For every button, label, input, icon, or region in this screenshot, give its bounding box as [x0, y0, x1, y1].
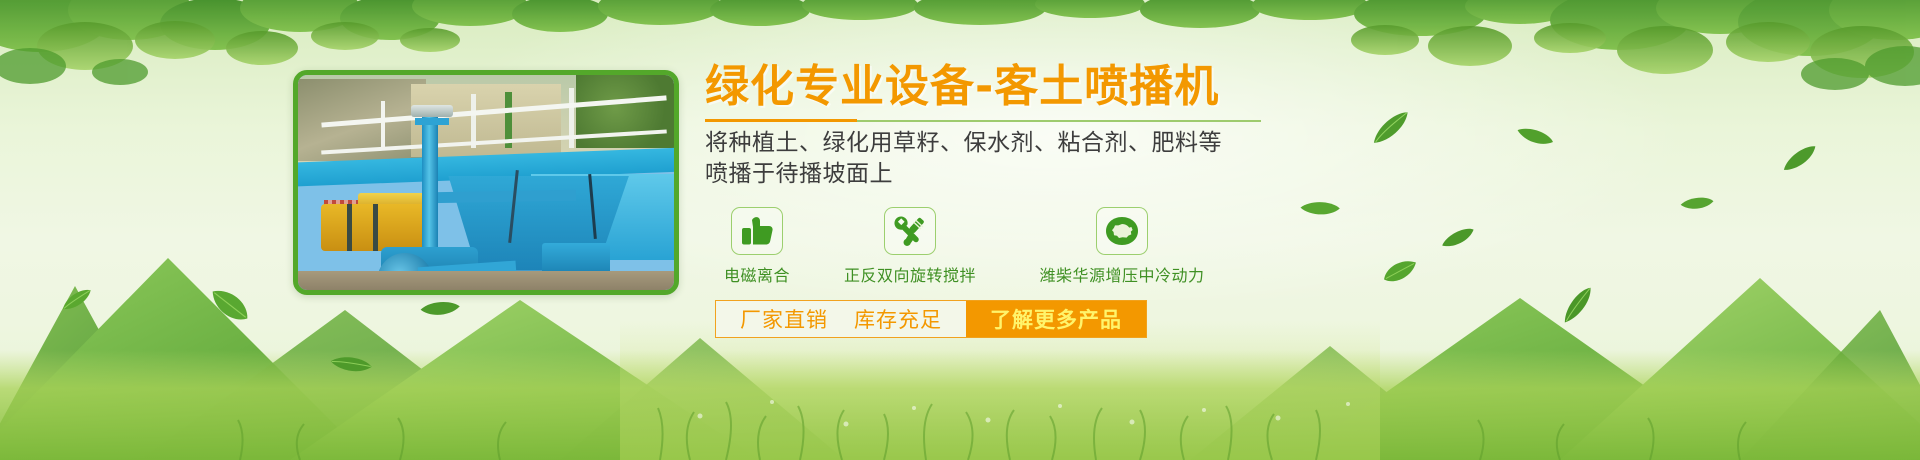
- feature-item-weichai-power[interactable]: 潍柴华源增压中冷动力: [1017, 207, 1227, 286]
- banner-subtitle-line-2: 喷播于待播坡面上: [705, 159, 1325, 189]
- banner-content: 绿化专业设备-客土喷播机 将种植土、绿化用草籽、保水剂、粘合剂、肥料等 喷播于待…: [705, 64, 1325, 338]
- cta-tag-stock-sufficient: 库存充足: [854, 304, 942, 334]
- grass-meadow: [0, 320, 1920, 460]
- feature-label: 电磁离合: [709, 262, 805, 286]
- feature-label: 正反双向旋转搅拌: [825, 262, 995, 286]
- feature-label: 潍柴华源增压中冷动力: [1017, 262, 1227, 286]
- product-photo-image: [298, 75, 674, 290]
- feature-item-electromagnetic-clutch[interactable]: 电磁离合: [709, 207, 805, 286]
- engine-gear-icon: [1096, 207, 1148, 255]
- cta-tags: 厂家直销 库存充足: [716, 301, 966, 337]
- cta-tag-factory-direct: 厂家直销: [740, 304, 828, 334]
- learn-more-button[interactable]: 了解更多产品: [966, 301, 1146, 337]
- promo-banner: 绿化专业设备-客土喷播机 将种植土、绿化用草籽、保水剂、粘合剂、肥料等 喷播于待…: [0, 0, 1920, 460]
- cta-bar: 厂家直销 库存充足 了解更多产品: [715, 300, 1147, 338]
- banner-title: 绿化专业设备-客土喷播机: [705, 64, 1325, 110]
- thumbs-up-icon: [731, 207, 783, 255]
- feature-list: 电磁离合 正反双向旋转搅拌: [705, 207, 1325, 286]
- wrench-screwdriver-icon: [884, 207, 936, 255]
- title-divider: [705, 119, 1261, 122]
- feature-item-bidirectional-mixing[interactable]: 正反双向旋转搅拌: [825, 207, 995, 286]
- product-photo[interactable]: [293, 70, 679, 295]
- banner-subtitle-line-1: 将种植土、绿化用草籽、保水剂、粘合剂、肥料等: [705, 128, 1325, 158]
